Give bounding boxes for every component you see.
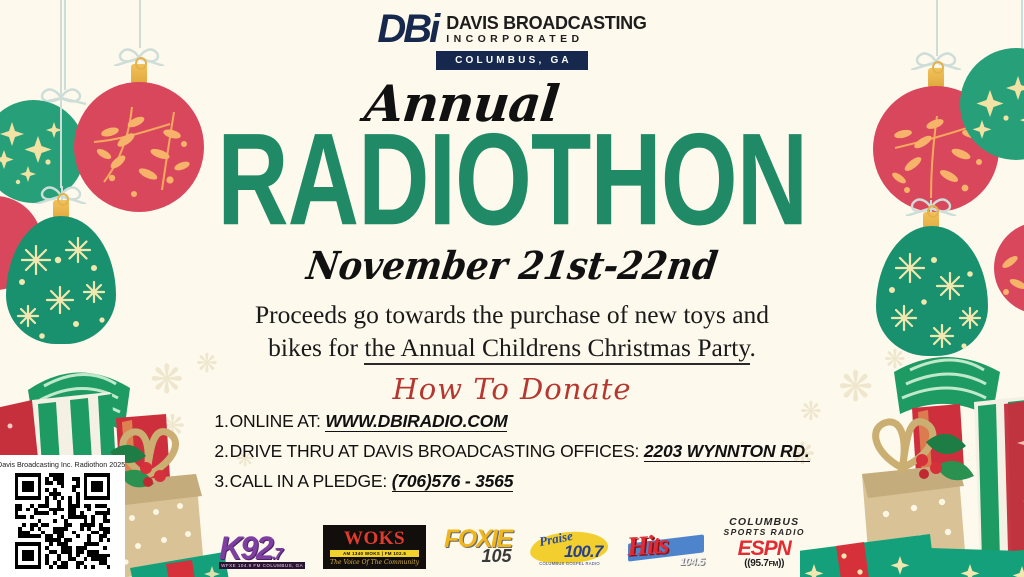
station-logo-hits: Hits 104.5 <box>626 527 706 569</box>
espn-wordmark: ESPN <box>724 538 805 559</box>
dbi-company-name: DAVIS BROADCASTING <box>446 14 646 32</box>
praise-frequency: 100.7 <box>564 542 603 562</box>
dbi-incorporated: INCORPORATED <box>446 34 646 45</box>
station-logo-woks: WOKS AM 1340 WOKS | FM 102.5 The Voice O… <box>323 525 426 569</box>
k92-7-wordmark: K92.7 <box>219 532 305 564</box>
phone-number[interactable]: (706)576 - 3565 <box>392 471 514 492</box>
qr-code[interactable] <box>15 473 111 569</box>
description-line-1: Proceeds go towards the purchase of new … <box>255 299 769 331</box>
woks-frequency-bar: AM 1340 WOKS | FM 102.5 <box>330 550 419 557</box>
woks-tagline: The Voice Of The Community <box>330 559 419 566</box>
station-logo-k92-7: K92.7 WFXE 104.9 FM COLUMBUS, GA <box>219 532 305 569</box>
description-line-2: bikes for the Annual Childrens Christmas… <box>255 332 769 364</box>
espn-city: COLUMBUS <box>724 517 805 528</box>
how-to-donate-heading: How To Donate <box>392 372 631 406</box>
hits-wordmark: Hits <box>625 529 668 563</box>
dbi-monogram: DBi <box>377 10 437 48</box>
website-link[interactable]: WWW.DBIRADIO.COM <box>325 411 507 432</box>
station-logo-strip: K92.7 WFXE 104.9 FM COLUMBUS, GA WOKS AM… <box>0 517 1024 569</box>
qr-caption: Davis Broadcasting Inc. Radiothon 2025 <box>0 460 119 469</box>
hits-frequency: 104.5 <box>679 556 704 568</box>
event-date: November 21st-22nd <box>304 244 720 289</box>
station-logo-praise: Praise 100.7 COLUMBUS GOSPEL RADIO <box>530 529 608 569</box>
page-title: RADIOTHON <box>217 123 807 236</box>
station-logo-espn: COLUMBUS SPORTS RADIO ESPN ((95.7FM)) <box>724 517 805 569</box>
donate-step-call-in: 3.CALL IN A PLEDGE: (706)576 - 3565 <box>214 471 513 492</box>
donate-step-online: 1.ONLINE AT: WWW.DBIRADIO.COM <box>214 411 507 432</box>
office-address: 2203 WYNNTON RD. <box>644 441 810 462</box>
event-description: Proceeds go towards the purchase of new … <box>255 299 769 363</box>
dbi-logo: DBi DAVIS BROADCASTING INCORPORATED COLU… <box>377 10 646 70</box>
dbi-city-banner: COLUMBUS, GA <box>436 51 588 70</box>
qr-code-card: Davis Broadcasting Inc. Radiothon 2025 <box>0 455 125 577</box>
donate-step-drive-thru: 2.DRIVE THRU AT DAVIS BROADCASTING OFFIC… <box>214 441 809 462</box>
radiothon-flyer: ❋ ❋ ❋ ❋ ❋ ❋ ❋ ❋ ❋ <box>0 0 1024 577</box>
station-logo-foxie: FOXIE 105 <box>444 527 512 569</box>
praise-subtext: COLUMBUS GOSPEL RADIO <box>536 561 604 566</box>
donate-steps-list: 1.ONLINE AT: WWW.DBIRADIO.COM 2.DRIVE TH… <box>214 411 809 492</box>
espn-frequency: ((95.7FM)) <box>724 558 805 569</box>
espn-format: SPORTS RADIO <box>724 528 805 537</box>
woks-wordmark: WOKS <box>330 529 419 548</box>
k92-7-subtext: WFXE 104.9 FM COLUMBUS, GA <box>219 562 305 569</box>
